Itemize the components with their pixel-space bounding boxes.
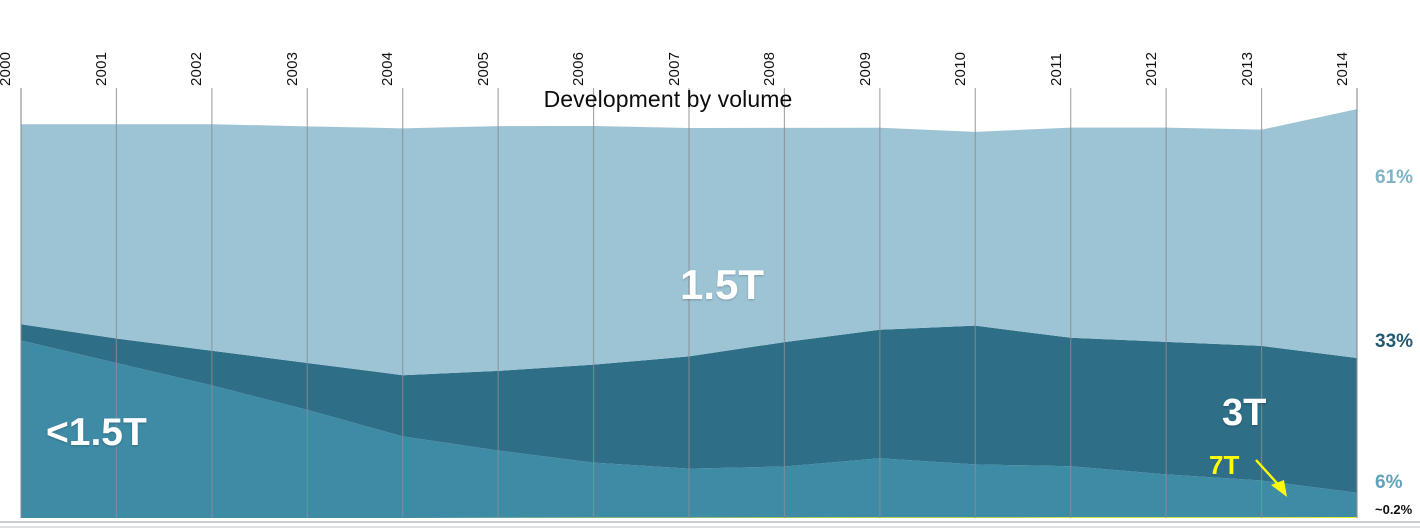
x-tick-label: 2010 (952, 52, 969, 86)
series-label-sub15t: <1.5T (46, 411, 147, 455)
chart-root: 2000 2001 2002 2003 2004 2005 2006 2007 … (0, 0, 1420, 530)
x-tick-label: 2013 (1239, 52, 1256, 86)
x-tick-label: 2004 (379, 52, 396, 86)
x-tick-label: 2000 (0, 52, 14, 86)
series-label-15t: 1.5T (680, 261, 764, 309)
end-value-15t: 61% (1375, 167, 1413, 189)
x-tick-label: 2005 (475, 52, 492, 86)
x-tick-label: 2009 (857, 52, 874, 86)
x-axis-year-labels: 2000 2001 2002 2003 2004 2005 2006 2007 … (0, 0, 1420, 88)
x-tick-label: 2006 (570, 52, 587, 86)
end-value-7t: ~0.2% (1375, 502, 1412, 517)
x-tick-label: 2002 (188, 52, 205, 86)
x-tick-label: 2011 (1048, 53, 1065, 86)
x-tick-label: 2014 (1334, 52, 1351, 86)
x-tick-label: 2007 (666, 52, 683, 86)
x-tick-label: 2003 (284, 52, 301, 86)
end-value-3t: 33% (1375, 331, 1413, 353)
baseline-rule-upper (0, 521, 1420, 523)
series-label-7t: 7T (1209, 450, 1239, 481)
x-tick-label: 2012 (1143, 52, 1160, 86)
x-tick-label: 2001 (93, 52, 110, 86)
chart-title: Development by volume (0, 86, 1336, 113)
baseline-rule-lower (0, 526, 1420, 528)
x-tick-label: 2008 (761, 52, 778, 86)
series-label-3t: 3T (1222, 392, 1266, 435)
end-value-sub15t: 6% (1375, 472, 1402, 494)
